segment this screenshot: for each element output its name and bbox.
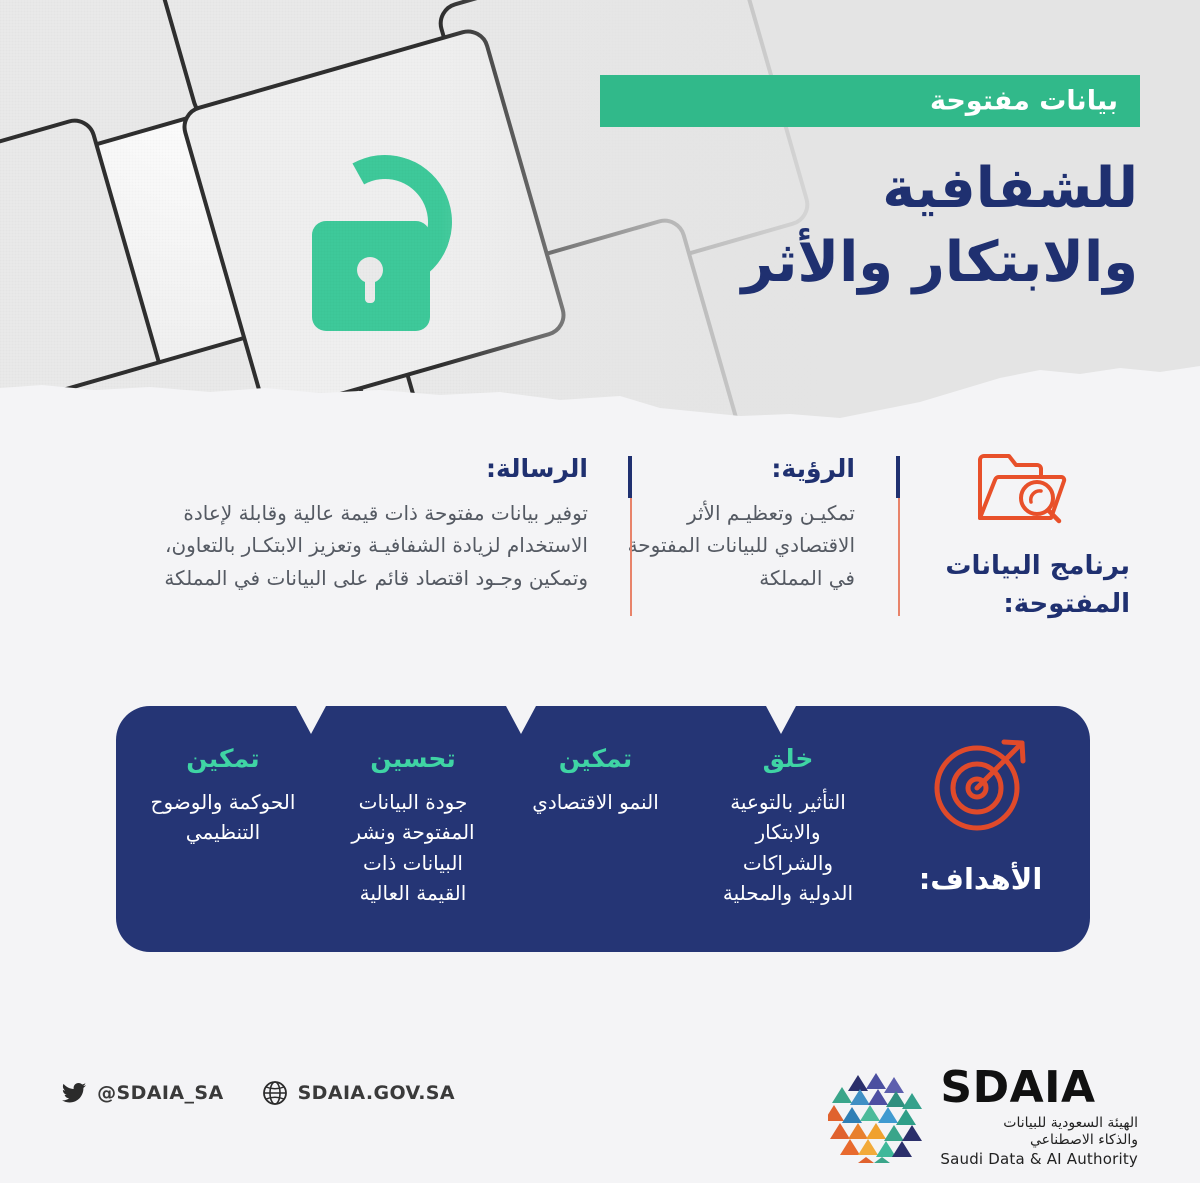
goal-item-2: تحسين جودة البيانات المفتوحة ونشر البيان… — [343, 744, 483, 909]
social-links: @SDAIA_SA SDAIA.GOV.SA — [61, 1080, 455, 1106]
vision-block: الرؤية: تمكيـن وتعظيـم الأثر الاقتصادي ل… — [620, 454, 855, 594]
globe-icon — [262, 1080, 288, 1106]
website-link[interactable]: SDAIA.GOV.SA — [262, 1080, 455, 1106]
goal-item-3: تمكين النمو الاقتصادي — [508, 744, 683, 817]
infographic-page: بيانات مفتوحة للشفافية والابتكار والأثر … — [0, 0, 1200, 1183]
goal-heading: تمكين — [508, 744, 683, 773]
hero-title-line2: والابتكار والأثر — [518, 226, 1138, 300]
goal-body: النمو الاقتصادي — [508, 787, 683, 817]
hero-section: بيانات مفتوحة للشفافية والابتكار والأثر — [0, 0, 1200, 420]
logo-name-ar-line2: والذكاء الاصطناعي — [940, 1133, 1138, 1147]
hero-badge-label: بيانات مفتوحة — [930, 86, 1118, 117]
logo-subtitle-en: Saudi Data & AI Authority — [940, 1152, 1138, 1167]
goal-heading: تمكين — [128, 744, 318, 773]
goals-panel: الأهداف: خلق التأثير بالتوعية والابتكار … — [98, 700, 1108, 958]
goal-body: جودة البيانات المفتوحة ونشر البيانات ذات… — [343, 787, 483, 909]
program-label: برنامج البيانات المفتوحة: — [908, 548, 1138, 623]
mission-heading: الرسالة: — [158, 454, 588, 483]
mission-block: الرسالة: توفير بيانات مفتوحة ذات قيمة عا… — [158, 454, 588, 594]
goal-body: الحوكمة والوضوح التنظيمي — [128, 787, 318, 848]
vision-mission-section: برنامج البيانات المفتوحة: الرؤية: تمكيـن… — [0, 432, 1200, 662]
page-title: للشفافية والابتكار والأثر — [518, 152, 1138, 300]
program-block: برنامج البيانات المفتوحة: — [908, 450, 1138, 623]
twitter-handle: @SDAIA_SA — [97, 1082, 223, 1104]
sdaia-mosaic-logo-icon — [828, 1071, 924, 1163]
folder-search-icon — [975, 450, 1071, 526]
hero-badge: بيانات مفتوحة — [600, 75, 1140, 127]
goal-heading: خلق — [713, 744, 863, 773]
objectives-block: الأهداف: — [873, 718, 1088, 896]
target-arrow-icon — [925, 732, 1037, 836]
vision-divider — [896, 456, 900, 616]
objectives-label: الأهداف: — [873, 862, 1088, 896]
sdaia-logo: SDAIA الهيئة السعودية للبيانات والذكاء ا… — [828, 1066, 1138, 1167]
hero-title-line1: للشفافية — [518, 152, 1138, 226]
goal-heading: تحسين — [343, 744, 483, 773]
logo-name-en: SDAIA — [940, 1066, 1138, 1110]
footer: @SDAIA_SA SDAIA.GOV.SA — [0, 1040, 1200, 1183]
mission-body: توفير بيانات مفتوحة ذات قيمة عالية وقابل… — [158, 497, 588, 594]
vision-body: تمكيـن وتعظيـم الأثر الاقتصادي للبيانات … — [620, 497, 855, 594]
twitter-bird-icon — [61, 1080, 87, 1106]
goal-item-4: خلق التأثير بالتوعية والابتكار والشراكات… — [713, 744, 863, 909]
mission-divider — [628, 456, 632, 616]
twitter-link[interactable]: @SDAIA_SA — [61, 1080, 223, 1106]
logo-name-ar-line1: الهيئة السعودية للبيانات — [940, 1116, 1138, 1130]
goal-item-1: تمكين الحوكمة والوضوح التنظيمي — [128, 744, 318, 848]
goal-body: التأثير بالتوعية والابتكار والشراكات الد… — [713, 787, 863, 909]
website-url: SDAIA.GOV.SA — [298, 1082, 455, 1104]
torn-paper-edge — [0, 330, 1200, 420]
vision-heading: الرؤية: — [620, 454, 855, 483]
